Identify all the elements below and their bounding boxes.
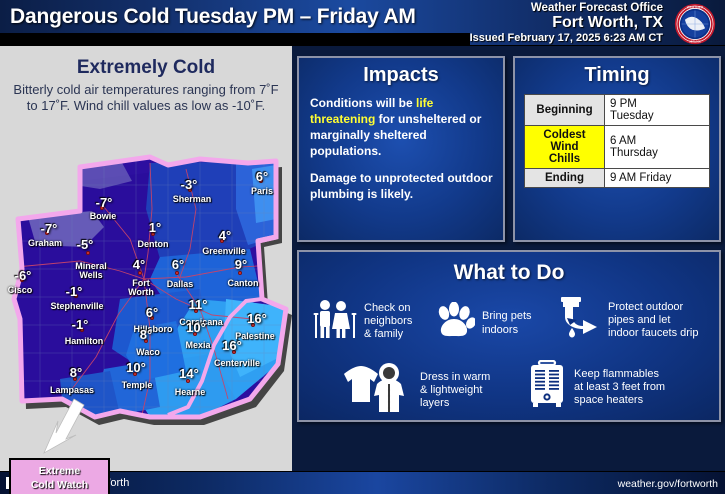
impacts-paragraph-2: Damage to unprotected outdoor plumbing i… <box>310 170 493 202</box>
what-to-do-item-heaters: Keep flammables at least 3 feet from spa… <box>527 360 725 415</box>
footer-url[interactable]: weather.gov/fortworth <box>618 478 718 490</box>
left-panel: Extremely Cold Bitterly cold air tempera… <box>0 46 292 471</box>
timing-row: Beginning9 PMTuesday <box>525 95 710 126</box>
what-to-do-text-layers: Dress in warm & lightweight layers <box>420 371 490 411</box>
temperature-label: 1° <box>149 220 161 235</box>
city-label: Bowie <box>90 212 117 221</box>
city-label: MineralWells <box>75 262 107 280</box>
city-label: Mexia <box>185 341 210 350</box>
issued-timestamp: Issued February 17, 2025 6:23 AM CT <box>470 33 663 45</box>
extremely-cold-description: Bitterly cold air temperatures ranging f… <box>8 82 284 114</box>
temperature-label: -7° <box>41 221 58 236</box>
office-block: Weather Forecast Office Fort Worth, TX I… <box>470 2 663 45</box>
timing-row: Ending9 AM Friday <box>525 169 710 188</box>
city-label: Lampasas <box>50 386 94 395</box>
family-icon <box>313 298 357 345</box>
header-underbar <box>0 33 470 46</box>
what-to-do-text-pets: Bring pets indoors <box>482 310 532 336</box>
temperature-label: 4° <box>133 257 145 272</box>
paw-print-icon <box>435 302 475 345</box>
city-label: Hamilton <box>65 337 104 346</box>
timing-row: ColdestWindChills6 AMThursday <box>525 126 710 169</box>
city-label: Stephenville <box>50 302 103 311</box>
what-to-do-text-family: Check on neighbors & family <box>364 302 412 342</box>
temperature-label: 11° <box>189 297 208 312</box>
timing-panel: Timing Beginning9 PMTuesdayColdestWindCh… <box>513 56 721 242</box>
space-heater-icon <box>527 360 567 415</box>
what-to-do-heading: What to Do <box>299 261 719 285</box>
svg-text:WEATHER: WEATHER <box>687 5 704 9</box>
city-label: Greenville <box>202 247 246 256</box>
temperature-label: -1° <box>66 284 83 299</box>
temperature-label: 8° <box>140 327 152 342</box>
what-to-do-text-heaters: Keep flammables at least 3 feet from spa… <box>574 368 665 408</box>
timing-row-key: Beginning <box>525 95 605 126</box>
impacts-heading: Impacts <box>299 64 503 87</box>
legend-line-2: Cold Watch <box>31 479 88 493</box>
temperature-label: -1° <box>72 317 89 332</box>
city-label: Canton <box>228 279 259 288</box>
temperature-label: 8° <box>70 365 82 380</box>
what-to-do-text-pipes: Protect outdoor pipes and let indoor fau… <box>608 301 699 341</box>
timing-table: Beginning9 PMTuesdayColdestWindChills6 A… <box>524 94 710 188</box>
timing-row-key: Ending <box>525 169 605 188</box>
legend-extreme-cold-watch[interactable]: Extreme Cold Watch <box>9 458 110 494</box>
city-label: Denton <box>138 240 169 249</box>
city-label: Waco <box>136 348 160 357</box>
impacts-panel: Impacts Conditions will be life threaten… <box>297 56 505 242</box>
office-city: Fort Worth, TX <box>470 14 663 31</box>
temperature-label: 10° <box>126 360 146 375</box>
temperature-label: -5° <box>77 237 94 252</box>
temperature-label: 14° <box>179 366 199 381</box>
page-title: Dangerous Cold Tuesday PM – Friday AM <box>10 5 416 29</box>
legend-line-1: Extreme <box>39 465 80 479</box>
timing-row-value: 9 AM Friday <box>605 169 710 188</box>
city-label: Graham <box>28 239 62 248</box>
temperature-label: 6° <box>172 257 184 272</box>
timing-row-value: 9 PMTuesday <box>605 95 710 126</box>
temperature-label: 10° <box>186 320 206 335</box>
extremely-cold-title: Extremely Cold <box>0 57 292 79</box>
city-label: Dallas <box>167 280 194 289</box>
timing-heading: Timing <box>515 64 719 87</box>
what-to-do-panel: What to Do Check on neig <box>297 250 721 422</box>
city-label: FortWorth <box>128 279 154 297</box>
winter-coat-icon <box>341 362 413 419</box>
city-label: Sherman <box>173 195 212 204</box>
city-label: Paris <box>251 187 273 196</box>
temperature-label: -7° <box>96 195 113 210</box>
temperature-label: 6° <box>256 169 268 184</box>
temperature-label: -6° <box>15 268 32 283</box>
city-label: Cisco <box>8 286 33 295</box>
city-label: Temple <box>122 381 153 390</box>
pipe-faucet-icon <box>557 296 601 345</box>
temperature-label: 9° <box>235 257 247 272</box>
timing-row-key: ColdestWindChills <box>525 126 605 169</box>
timing-row-value: 6 AMThursday <box>605 126 710 169</box>
wind-chill-map[interactable]: -7°Bowie-3°Sherman6°Paris-7°Graham1°Dent… <box>0 149 292 464</box>
temperature-label: 4° <box>219 228 231 243</box>
nws-logo-icon: WEATHER SERVICE <box>670 3 720 45</box>
temperature-label: -3° <box>181 177 198 192</box>
temperature-label: 6° <box>146 305 158 320</box>
what-to-do-item-pipes: Protect outdoor pipes and let indoor fau… <box>557 296 725 345</box>
impacts-paragraph-1: Conditions will be life threatening for … <box>310 95 493 159</box>
city-label: Centerville <box>214 359 260 368</box>
city-label: Hearne <box>175 388 206 397</box>
what-to-do-item-layers: Dress in warm & lightweight layers <box>341 362 491 419</box>
weather-graphic: Dangerous Cold Tuesday PM – Friday AM We… <box>0 0 725 494</box>
what-to-do-item-family: Check on neighbors & family <box>313 298 443 345</box>
temperature-label: 16° <box>222 338 242 353</box>
svg-text:SERVICE: SERVICE <box>689 39 701 43</box>
header-bar: Dangerous Cold Tuesday PM – Friday AM We… <box>0 0 725 46</box>
impacts-p1-a: Conditions will be <box>310 96 416 110</box>
what-to-do-item-pets: Bring pets indoors <box>435 302 555 345</box>
temperature-label: 16° <box>247 311 267 326</box>
impacts-body: Conditions will be life threatening for … <box>310 95 493 202</box>
office-label: Weather Forecast Office <box>470 2 663 14</box>
